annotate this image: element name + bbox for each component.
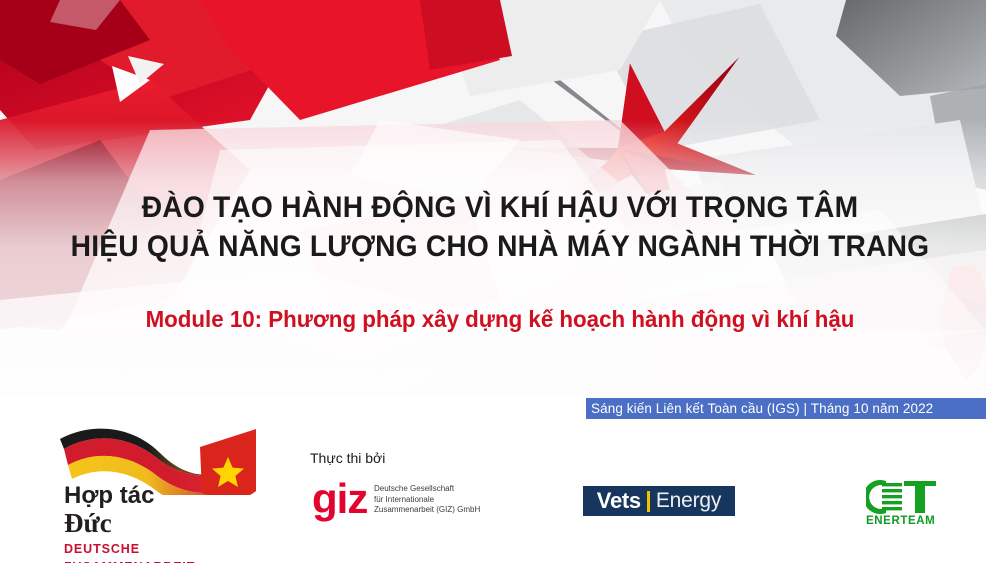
- deutsche-zusammenarbeit-line: DEUTSCHE ZUSAMMENARBEIT: [64, 540, 274, 563]
- footer-logo-bar: Hợp tác Đức DEUTSCHE ZUSAMMENARBEIT Thực…: [0, 420, 1000, 563]
- german-cooperation-logo: Hợp tác Đức DEUTSCHE ZUSAMMENARBEIT: [28, 425, 273, 560]
- giz-tagline-line-2: für Internationale: [374, 495, 480, 506]
- vets-wordmark: Vets: [597, 488, 641, 514]
- energy-wordmark: Energy: [656, 489, 721, 513]
- enerteam-et-mark-icon: [866, 479, 938, 515]
- implemented-by-label: Thực thi bởi: [310, 450, 385, 466]
- giz-wordmark: giz: [312, 478, 367, 520]
- giz-tagline-line-3: Zusammenarbeit (GIZ) GmbH: [374, 505, 480, 516]
- title-line-2: HIỆU QUẢ NĂNG LƯỢNG CHO NHÀ MÁY NGÀNH TH…: [30, 227, 970, 266]
- initiative-date-ribbon: Sáng kiến Liên kết Toàn cầu (IGS) | Thán…: [586, 398, 986, 419]
- vets-energy-logo: Vets Energy: [583, 486, 735, 516]
- module-subtitle: Module 10: Phương pháp xây dựng kế hoạch…: [15, 306, 985, 333]
- giz-tagline-line-1: Deutsche Gesellschaft: [374, 484, 480, 495]
- enerteam-logo: ENERTEAM: [866, 479, 956, 549]
- title-slide: ĐÀO TẠO HÀNH ĐỘNG VÌ KHÍ HẬU VỚI TRỌNG T…: [0, 0, 1000, 563]
- title-line-1: ĐÀO TẠO HÀNH ĐỘNG VÌ KHÍ HẬU VỚI TRỌNG T…: [30, 188, 970, 227]
- vets-divider-bar: [647, 491, 650, 512]
- duc-line: Đức: [64, 509, 274, 538]
- hoptac-line: Hợp tác: [64, 483, 274, 509]
- giz-logo: giz Deutsche Gesellschaft für Internatio…: [312, 480, 502, 526]
- enerteam-wordmark: ENERTEAM: [866, 515, 952, 527]
- giz-tagline: Deutsche Gesellschaft für Internationale…: [374, 484, 480, 516]
- german-cooperation-wordmark: Hợp tác Đức DEUTSCHE ZUSAMMENARBEIT: [64, 483, 274, 563]
- page-title: ĐÀO TẠO HÀNH ĐỘNG VÌ KHÍ HẬU VỚI TRỌNG T…: [0, 188, 1000, 266]
